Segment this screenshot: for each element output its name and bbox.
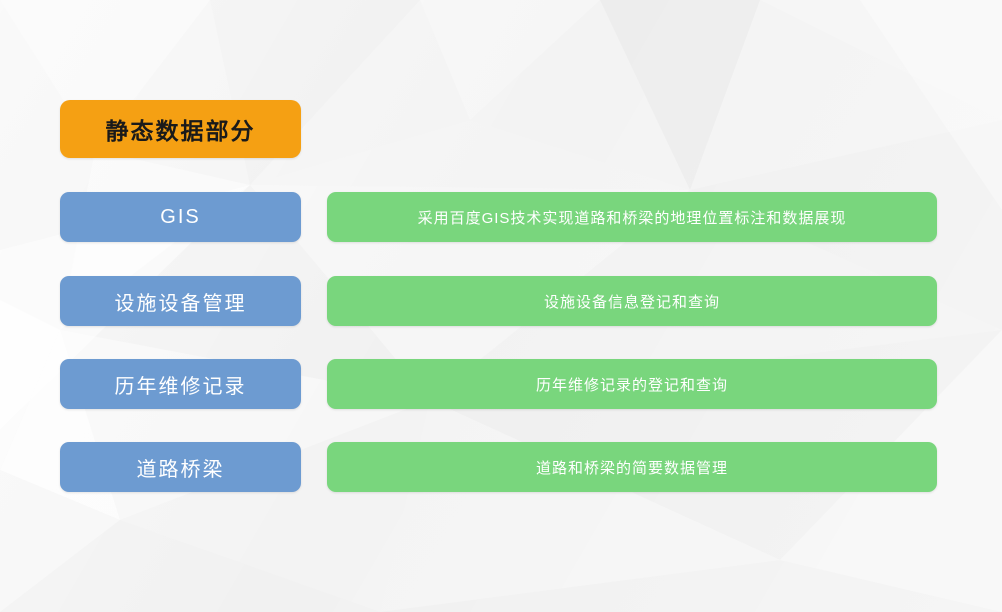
category-description-maintenance-records: 历年维修记录的登记和查询 (327, 359, 937, 409)
category-label-facility-equipment-management[interactable]: 设施设备管理 (60, 276, 301, 326)
category-label-maintenance-records[interactable]: 历年维修记录 (60, 359, 301, 409)
category-description-roads-bridges: 道路和桥梁的简要数据管理 (327, 442, 937, 492)
category-label-roads-bridges[interactable]: 道路桥梁 (60, 442, 301, 492)
category-label-gis[interactable]: GIS (60, 192, 301, 242)
slide-canvas: 静态数据部分 GIS 采用百度GIS技术实现道路和桥梁的地理位置标注和数据展现 … (0, 0, 1002, 612)
category-description-facility-equipment-management: 设施设备信息登记和查询 (327, 276, 937, 326)
category-description-gis: 采用百度GIS技术实现道路和桥梁的地理位置标注和数据展现 (327, 192, 937, 242)
section-title-badge: 静态数据部分 (60, 100, 301, 158)
slide-content: 静态数据部分 GIS 采用百度GIS技术实现道路和桥梁的地理位置标注和数据展现 … (0, 0, 1002, 612)
